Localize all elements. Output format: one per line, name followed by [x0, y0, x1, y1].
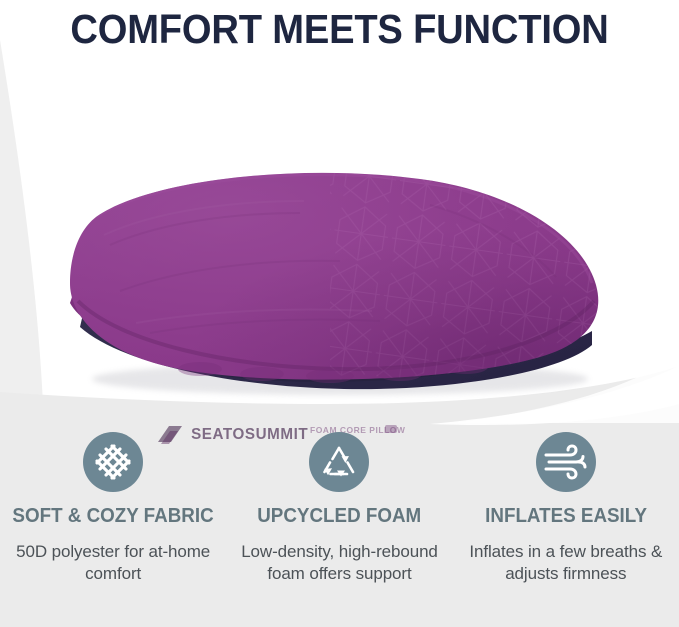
feature-title: SOFT & COZY FABRIC — [13, 505, 214, 528]
woven-fabric-icon — [83, 432, 143, 492]
feature-item-foam: UPCYCLED FOAM Low-density, high-rebound … — [226, 424, 452, 627]
page-title: COMFORT MEETS FUNCTION — [24, 2, 655, 56]
feature-description: Inflates in a few breaths & adjusts firm… — [458, 541, 673, 584]
feature-title: UPCYCLED FOAM — [257, 505, 421, 528]
product-image-pillow: SEATOSUMMIT FOAM CORE PILLOW — [0, 95, 679, 400]
wind-icon — [536, 432, 596, 492]
product-feature-banner: COMFORT MEETS FUNCTION — [0, 0, 679, 627]
feature-item-fabric: SOFT & COZY FABRIC 50D polyester for at-… — [0, 424, 226, 627]
feature-item-inflate: INFLATES EASILY Inflates in a few breath… — [453, 424, 679, 627]
feature-description: 50D polyester for at-home comfort — [6, 541, 221, 584]
feature-description: Low-density, high-rebound foam offers su… — [232, 541, 447, 584]
recycle-icon — [309, 432, 369, 492]
feature-list: SOFT & COZY FABRIC 50D polyester for at-… — [0, 424, 679, 627]
feature-title: INFLATES EASILY — [485, 505, 647, 528]
